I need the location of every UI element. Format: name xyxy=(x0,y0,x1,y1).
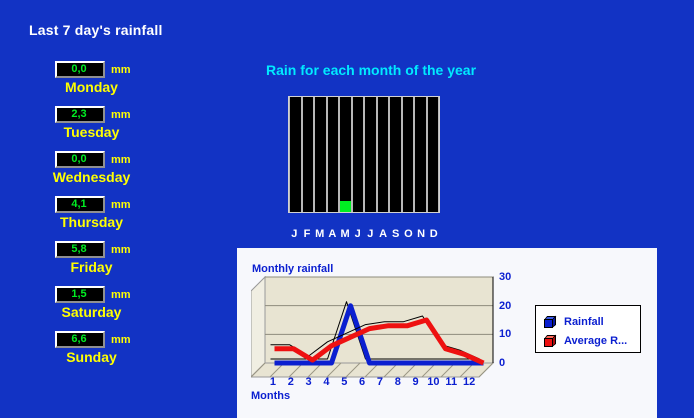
chart-x-label-9: 9 xyxy=(413,376,419,388)
led-row-saturday: 1,5 mm xyxy=(55,286,131,303)
chart-x-tick-labels: 123456789101112 xyxy=(251,376,497,390)
month-column-a-8 xyxy=(378,97,389,212)
month-label-10: O xyxy=(402,228,415,240)
month-label-3: M xyxy=(313,228,326,240)
chart-x-label-11: 11 xyxy=(445,376,457,388)
month-fill-5 xyxy=(340,201,351,213)
chart-plot-area xyxy=(251,276,495,379)
chart-y-label-0: 0 xyxy=(499,357,505,369)
month-column-f-2 xyxy=(303,97,314,212)
day-label-friday: Friday xyxy=(0,259,183,275)
month-column-d-12 xyxy=(428,97,439,212)
page-title: Last 7 day's rainfall xyxy=(29,22,163,38)
led-row-thursday: 4,1 mm xyxy=(55,196,131,213)
chart-x-label-7: 7 xyxy=(377,376,383,388)
rainfall-value-monday: 0,0 xyxy=(71,64,88,75)
month-label-2: F xyxy=(301,228,314,240)
chart-svg xyxy=(251,276,495,379)
unit-label-wednesday: mm xyxy=(111,154,131,166)
led-display-friday: 5,8 xyxy=(55,241,105,258)
chart-x-label-1: 1 xyxy=(270,376,276,388)
chart-x-label-4: 4 xyxy=(323,376,329,388)
month-bar-grid xyxy=(288,96,440,213)
month-label-1: J xyxy=(288,228,301,240)
month-label-12: D xyxy=(427,228,440,240)
chart-y-label-20: 20 xyxy=(499,300,511,312)
app-root: Last 7 day's rainfall 0,0 mm Monday 2,3 … xyxy=(0,0,694,418)
rainfall-value-tuesday: 2,3 xyxy=(71,109,88,120)
chart-legend: Rainfall Average R... xyxy=(535,305,641,353)
chart-x-label-5: 5 xyxy=(341,376,347,388)
chart-x-label-3: 3 xyxy=(306,376,312,388)
rainfall-value-thursday: 4,1 xyxy=(71,199,88,210)
rainfall-value-sunday: 6,6 xyxy=(71,334,88,345)
chart-x-label-8: 8 xyxy=(395,376,401,388)
month-column-j-7 xyxy=(365,97,376,212)
month-column-s-9 xyxy=(390,97,401,212)
chart-side-wall xyxy=(251,277,265,377)
day-label-tuesday: Tuesday xyxy=(0,124,183,140)
month-label-6: J xyxy=(351,228,364,240)
unit-label-tuesday: mm xyxy=(111,109,131,121)
cube-icon-rainfall xyxy=(544,316,557,328)
day-label-monday: Monday xyxy=(0,79,183,95)
led-row-wednesday: 0,0 mm xyxy=(55,151,131,168)
led-display-thursday: 4,1 xyxy=(55,196,105,213)
day-label-saturday: Saturday xyxy=(0,304,183,320)
day-label-sunday: Sunday xyxy=(0,349,183,365)
month-column-n-11 xyxy=(415,97,426,212)
month-label-8: A xyxy=(377,228,390,240)
unit-label-friday: mm xyxy=(111,244,131,256)
chart-y-label-30: 30 xyxy=(499,271,511,283)
chart-y-label-10: 10 xyxy=(499,328,511,340)
chart-x-axis-title: Months xyxy=(251,390,290,402)
chart-x-label-6: 6 xyxy=(359,376,365,388)
chart-x-label-12: 12 xyxy=(463,376,475,388)
chart-y-tick-labels: 0102030 xyxy=(499,268,523,378)
rainfall-value-friday: 5,8 xyxy=(71,244,88,255)
led-display-saturday: 1,5 xyxy=(55,286,105,303)
month-column-j-1 xyxy=(290,97,301,212)
legend-item-average-rainfall: Average R... xyxy=(544,331,640,350)
led-row-tuesday: 2,3 mm xyxy=(55,106,131,123)
chart-panel: Monthly rainfall 123456789101112 Months … xyxy=(237,248,657,418)
month-label-9: S xyxy=(389,228,402,240)
legend-label-average-rainfall: Average R... xyxy=(564,335,627,347)
led-row-monday: 0,0 mm xyxy=(55,61,131,78)
cube-icon-average-rainfall xyxy=(544,335,557,347)
month-label-7: J xyxy=(364,228,377,240)
month-column-o-10 xyxy=(403,97,414,212)
rainfall-value-saturday: 1,5 xyxy=(71,289,88,300)
month-label-4: A xyxy=(326,228,339,240)
month-column-m-3 xyxy=(315,97,326,212)
unit-label-thursday: mm xyxy=(111,199,131,211)
led-display-tuesday: 2,3 xyxy=(55,106,105,123)
legend-item-rainfall: Rainfall xyxy=(544,312,640,331)
led-row-friday: 5,8 mm xyxy=(55,241,131,258)
unit-label-sunday: mm xyxy=(111,334,131,346)
month-column-m-5 xyxy=(340,97,351,212)
day-label-wednesday: Wednesday xyxy=(0,169,183,185)
led-row-sunday: 6,6 mm xyxy=(55,331,131,348)
rainfall-value-wednesday: 0,0 xyxy=(71,154,88,165)
legend-label-rainfall: Rainfall xyxy=(564,316,604,328)
month-column-a-4 xyxy=(328,97,339,212)
month-grid-title: Rain for each month of the year xyxy=(266,62,476,78)
led-display-wednesday: 0,0 xyxy=(55,151,105,168)
month-grid-labels: JFMAMJJASOND xyxy=(288,228,440,240)
month-label-5: M xyxy=(339,228,352,240)
chart-x-label-2: 2 xyxy=(288,376,294,388)
day-label-thursday: Thursday xyxy=(0,214,183,230)
unit-label-monday: mm xyxy=(111,64,131,76)
led-display-sunday: 6,6 xyxy=(55,331,105,348)
chart-x-label-10: 10 xyxy=(427,376,439,388)
month-label-11: N xyxy=(415,228,428,240)
month-column-j-6 xyxy=(353,97,364,212)
unit-label-saturday: mm xyxy=(111,289,131,301)
chart-title: Monthly rainfall xyxy=(252,263,333,275)
led-display-monday: 0,0 xyxy=(55,61,105,78)
